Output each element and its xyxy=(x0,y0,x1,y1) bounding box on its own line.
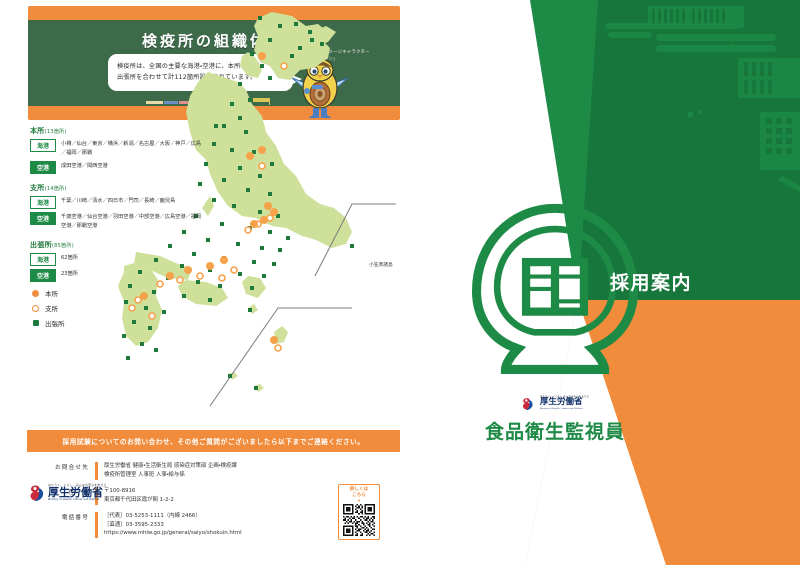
map-legend: 本所 支所 出張所 xyxy=(32,288,65,333)
legend-marker-honsho-icon xyxy=(32,290,39,297)
contact-row-office: お問合せ先 厚生労働省 健康・生活衛生局 感染症対策部 企画・検疫課 検疫所管理… xyxy=(27,462,400,480)
station-group-heading: 支所(14箇所) xyxy=(30,183,205,193)
contact-phone-main: ［代表］03-5253-1111（内線 2466） xyxy=(104,512,242,521)
contact-street-address: 東京都千代田区霞が関 1-2-2 xyxy=(104,496,174,505)
station-group-shuccho: 出張所(85箇所) 海港 62箇所 空港 23箇所 xyxy=(30,240,205,282)
contact-bar xyxy=(95,462,98,480)
contact-phone-direct: ［直通］03-3595-2333 xyxy=(104,521,242,530)
left-page: 検疫所の組織体制 検疫所は、全国の主要な海港・空港に、本所、支所、 出張所を合わ… xyxy=(0,0,430,565)
station-group-shisho: 支所(14箇所) 海港 千葉／川崎／清水／四日市／門司／長崎／鹿児島 空港 千歳… xyxy=(30,183,205,231)
mhlw-name-en: Ministry of Health, Labour and Welfare xyxy=(540,408,589,410)
station-row-sea: 海港 千葉／川崎／清水／四日市／門司／長崎／鹿児島 xyxy=(30,196,205,209)
station-group-heading: 出張所(85箇所) xyxy=(30,240,205,250)
map-inset-line-nansei xyxy=(210,308,352,406)
mhlw-logo-text: はたらく、くらし、みんなの安心を支える 厚生労働省 Ministry of He… xyxy=(48,484,107,502)
station-group-honsho: 本所(13箇所) 海港 小樽／仙台／東京／横浜／新潟／名古屋／大阪／神戸／広島／… xyxy=(30,126,205,174)
station-group-count: (85箇所) xyxy=(52,243,74,249)
map-land-hokkaido xyxy=(254,12,330,80)
station-row-air: 空港 23箇所 xyxy=(30,269,205,282)
qr-code-icon[interactable] xyxy=(343,504,375,536)
cover-panel: はたらく、くらし、みんなの安心を支える 厚生労働省 Ministry of He… xyxy=(430,0,800,565)
legend-label-shisho: 支所 xyxy=(45,303,58,313)
mhlw-mark-icon xyxy=(521,397,534,410)
station-row-air: 空港 千歳空港／仙台空港／羽田空港／中部空港／広島空港／福岡空港／那覇空港 xyxy=(30,212,205,231)
mhlw-logo-text: はたらく、くらし、みんなの安心を支える 厚生労働省 Ministry of He… xyxy=(540,396,589,410)
legend-item-shisho: 支所 xyxy=(32,303,65,313)
station-group-count: (13箇所) xyxy=(45,129,67,135)
contact-office-line-2: 検疫所管理室 人事班 人事・給与係 xyxy=(104,471,237,480)
cover-brochure-title: 採用案内 xyxy=(610,268,692,295)
qr-arrow-icon: ▼ xyxy=(341,499,377,503)
contact-value-address: 〒100-8916 東京都千代田区霞が関 1-2-2 xyxy=(104,487,174,505)
station-list-sea: 小樽／仙台／東京／横浜／新潟／名古屋／大阪／神戸／広島／福岡／那覇 xyxy=(61,139,205,158)
station-count-air: 23箇所 xyxy=(61,269,78,279)
contact-label-office: お問合せ先 xyxy=(27,462,89,471)
contact-bar xyxy=(95,512,98,539)
station-group-name: 本所 xyxy=(30,127,45,135)
brochure-page: 検疫所の組織体制 検疫所は、全国の主要な海港・空港に、本所、支所、 出張所を合わ… xyxy=(0,0,800,565)
contact-office-line-1: 厚生労働省 健康・生活衛生局 感染症対策部 企画・検疫課 xyxy=(104,462,237,471)
contact-value-office: 厚生労働省 健康・生活衛生局 感染症対策部 企画・検疫課 検疫所管理室 人事班 … xyxy=(104,462,237,480)
cover-job-title: 食品衛生監視員 xyxy=(485,417,625,444)
tag-sea-port: 海港 xyxy=(30,139,56,152)
station-row-air: 空港 成田空港／関西空港 xyxy=(30,161,205,174)
legend-item-shuccho: 出張所 xyxy=(32,318,65,328)
station-group-name: 出張所 xyxy=(30,241,52,249)
legend-marker-shisho-icon xyxy=(32,305,39,312)
mhlw-name-en: Ministry of Health, Labour and Welfare xyxy=(48,499,107,502)
station-list-air: 成田空港／関西空港 xyxy=(61,161,108,171)
contact-label-phone: 電話番号 xyxy=(27,512,89,521)
tag-sea-port: 海港 xyxy=(30,196,56,209)
contact-website-url[interactable]: https://www.mhlw.go.jp/general/saiyo/sho… xyxy=(104,529,242,538)
contact-postal-code: 〒100-8916 xyxy=(104,487,174,496)
tag-airport: 空港 xyxy=(30,269,56,282)
tag-airport: 空港 xyxy=(30,161,56,174)
legend-item-honsho: 本所 xyxy=(32,288,65,298)
station-row-sea: 海港 小樽／仙台／東京／横浜／新潟／名古屋／大阪／神戸／広島／福岡／那覇 xyxy=(30,139,205,158)
mhlw-mark-icon xyxy=(28,484,45,501)
station-group-name: 支所 xyxy=(30,184,45,192)
station-list-sea: 千葉／川崎／清水／四日市／門司／長崎／鹿児島 xyxy=(61,196,175,206)
mhlw-logo-cover: はたらく、くらし、みんなの安心を支える 厚生労働省 Ministry of He… xyxy=(521,396,589,410)
station-list-air: 千歳空港／仙台空港／羽田空港／中部空港／広島空港／福岡空港／那覇空港 xyxy=(61,212,205,231)
mhlw-name-ja: 厚生労働省 xyxy=(540,398,589,408)
contact-value-phone: ［代表］03-5253-1111（内線 2466） ［直通］03-3595-23… xyxy=(104,512,242,539)
qr-code-box[interactable]: 詳しくは こちら ▼ xyxy=(338,484,380,540)
legend-label-honsho: 本所 xyxy=(45,288,58,298)
station-group-count: (14箇所) xyxy=(45,186,67,192)
legend-label-shuccho: 出張所 xyxy=(45,318,65,328)
cover-branding: はたらく、くらし、みんなの安心を支える 厚生労働省 Ministry of He… xyxy=(460,196,650,444)
station-row-sea: 海港 62箇所 xyxy=(30,253,205,266)
tag-sea-port: 海港 xyxy=(30,253,56,266)
mhlw-logo-footer: はたらく、くらし、みんなの安心を支える 厚生労働省 Ministry of He… xyxy=(28,484,107,502)
tag-airport: 空港 xyxy=(30,212,56,225)
station-groups: 本所(13箇所) 海港 小樽／仙台／東京／横浜／新潟／名古屋／大阪／神戸／広島／… xyxy=(30,126,205,291)
map-island-label: 小笠原諸島 xyxy=(369,262,393,268)
station-group-heading: 本所(13箇所) xyxy=(30,126,205,136)
contact-cta-text: 採用試験についてのお問い合わせ、その他ご質問がございましたら以下までご連絡くださ… xyxy=(63,436,365,446)
legend-marker-shuccho-icon xyxy=(33,320,39,326)
station-count-sea: 62箇所 xyxy=(61,253,78,263)
contact-cta-banner: 採用試験についてのお問い合わせ、その他ご質問がございましたら以下までご連絡くださ… xyxy=(27,430,400,452)
